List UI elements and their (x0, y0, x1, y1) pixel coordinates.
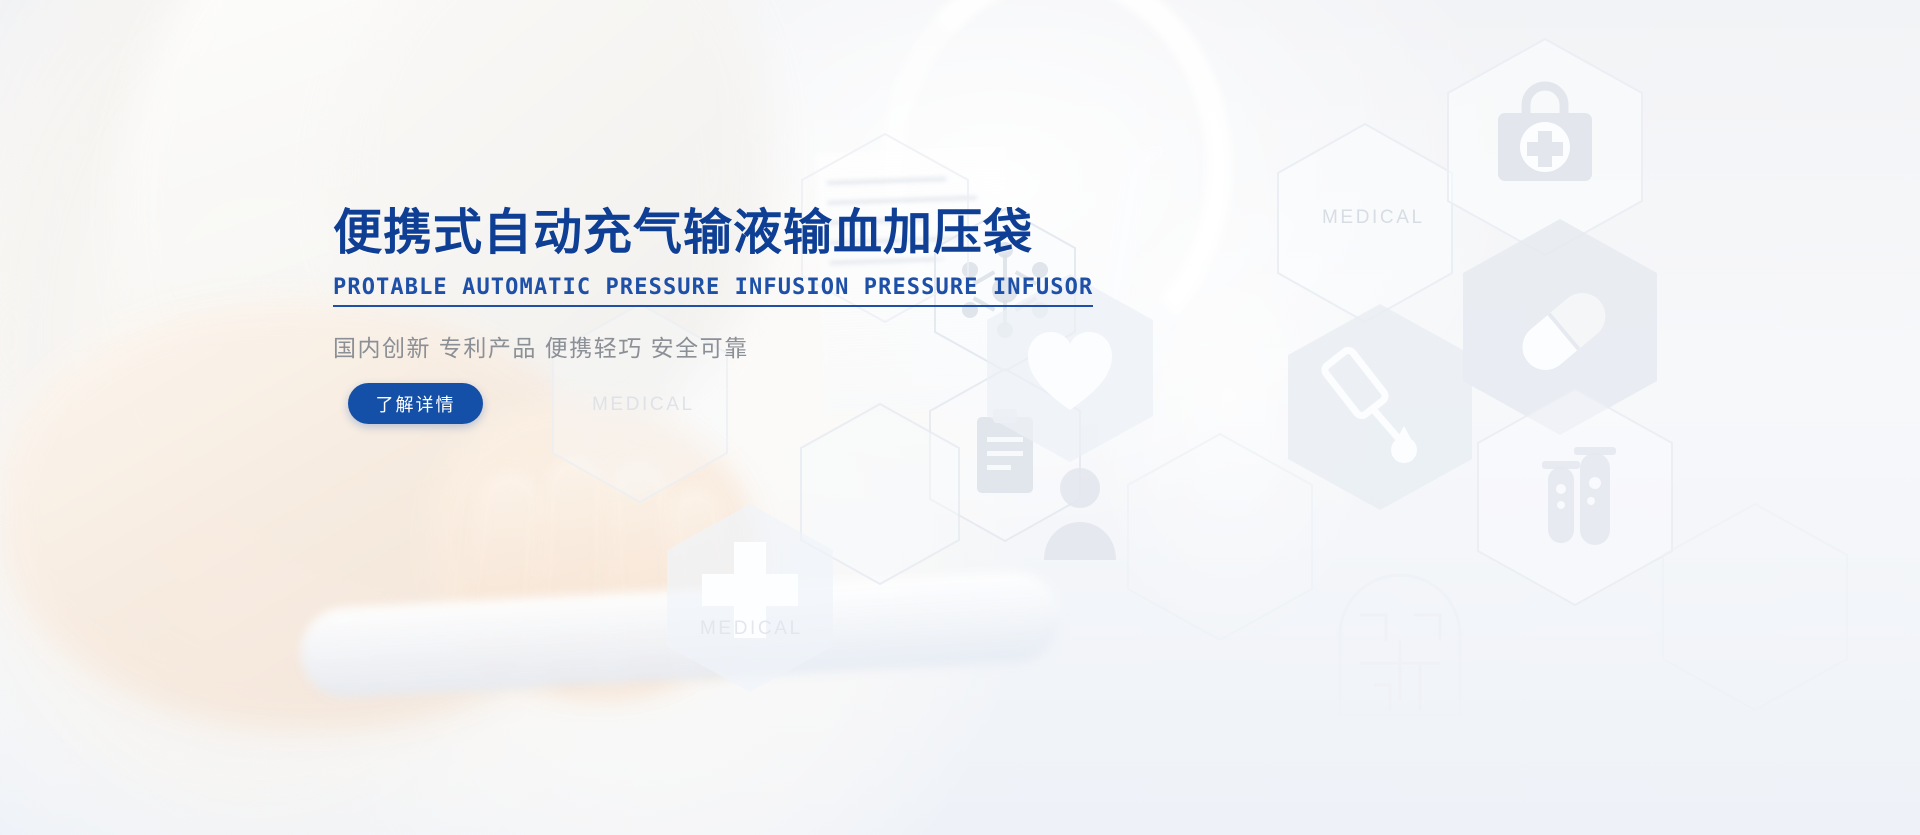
learn-more-button[interactable]: 了解详情 (348, 383, 483, 424)
banner-copy: 便携式自动充气输液输血加压袋 PROTABLE AUTOMATIC PRESSU… (333, 206, 1033, 363)
subtitle-underline-wrap: PROTABLE AUTOMATIC PRESSURE INFUSION PRE… (333, 275, 1093, 307)
product-hero-banner: MEDICAL MEDICAL MEDICAL (0, 0, 1920, 835)
feature-tagline: 国内创新 专利产品 便携轻巧 安全可靠 (333, 329, 1033, 363)
product-image: Hot-Link® 恒林科技 500mL Pressure Infusor 输液… (1080, 0, 1920, 835)
subtitle-english: PROTABLE AUTOMATIC PRESSURE INFUSION PRE… (333, 275, 1093, 300)
page-title: 便携式自动充气输液输血加压袋 (333, 206, 1033, 261)
